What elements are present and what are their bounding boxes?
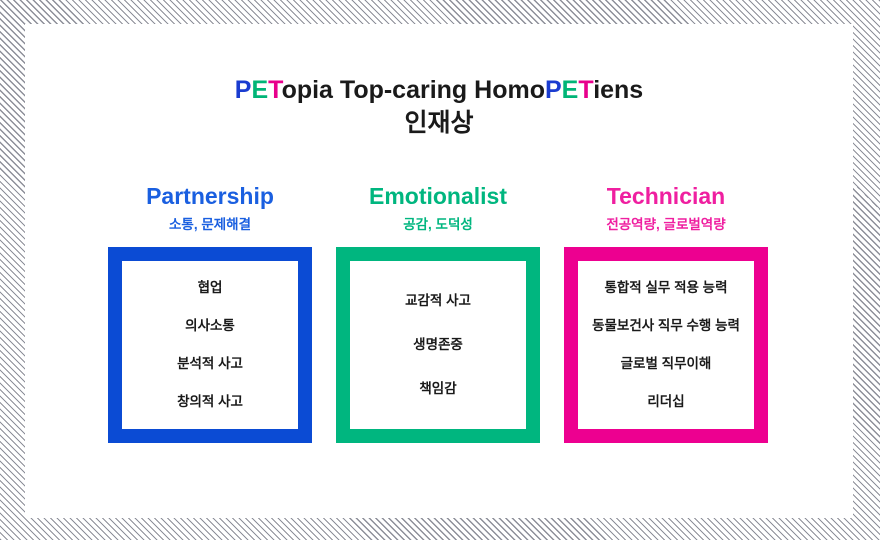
list-item: 창의적 사고 [177, 393, 243, 411]
list-item: 글로벌 직무이해 [621, 355, 712, 373]
list-item: 동물보건사 직무 수행 능력 [592, 317, 740, 335]
competency-list-partnership: 협업 의사소통 분석적 사고 창의적 사고 [122, 279, 298, 411]
column-heading-technician: Technician [564, 182, 768, 210]
competency-list-emotionalist: 교감적 사고 생명존중 책임감 [350, 292, 526, 398]
column-emotionalist: Emotionalist 공감, 도덕성 교감적 사고 생명존중 책임감 [336, 182, 540, 443]
competency-columns: Partnership 소통, 문제해결 협업 의사소통 분석적 사고 창의적 … [25, 24, 853, 518]
list-item: 분석적 사고 [177, 355, 243, 373]
content-area: PETopia Top-caring HomoPETiens 인재상 Partn… [25, 24, 853, 518]
list-item: 교감적 사고 [405, 292, 471, 310]
infographic-page: PETopia Top-caring HomoPETiens 인재상 Partn… [0, 0, 880, 540]
column-subtitle-emotionalist: 공감, 도덕성 [336, 215, 540, 235]
competency-box-emotionalist: 교감적 사고 생명존중 책임감 [336, 247, 540, 443]
column-technician: Technician 전공역량, 글로벌역량 통합적 실무 적용 능력 동물보건… [564, 182, 768, 443]
column-subtitle-technician: 전공역량, 글로벌역량 [564, 215, 768, 235]
competency-box-technician: 통합적 실무 적용 능력 동물보건사 직무 수행 능력 글로벌 직무이해 리더십 [564, 247, 768, 443]
column-partnership: Partnership 소통, 문제해결 협업 의사소통 분석적 사고 창의적 … [108, 182, 312, 443]
list-item: 의사소통 [185, 317, 235, 335]
list-item: 통합적 실무 적용 능력 [604, 279, 727, 297]
competency-box-partnership: 협업 의사소통 분석적 사고 창의적 사고 [108, 247, 312, 443]
competency-list-technician: 통합적 실무 적용 능력 동물보건사 직무 수행 능력 글로벌 직무이해 리더십 [578, 279, 754, 411]
column-heading-emotionalist: Emotionalist [336, 182, 540, 210]
list-item: 책임감 [419, 380, 456, 398]
list-item: 리더십 [647, 393, 684, 411]
column-subtitle-partnership: 소통, 문제해결 [108, 215, 312, 235]
list-item: 협업 [198, 279, 223, 297]
list-item: 생명존중 [413, 336, 463, 354]
column-heading-partnership: Partnership [108, 182, 312, 210]
